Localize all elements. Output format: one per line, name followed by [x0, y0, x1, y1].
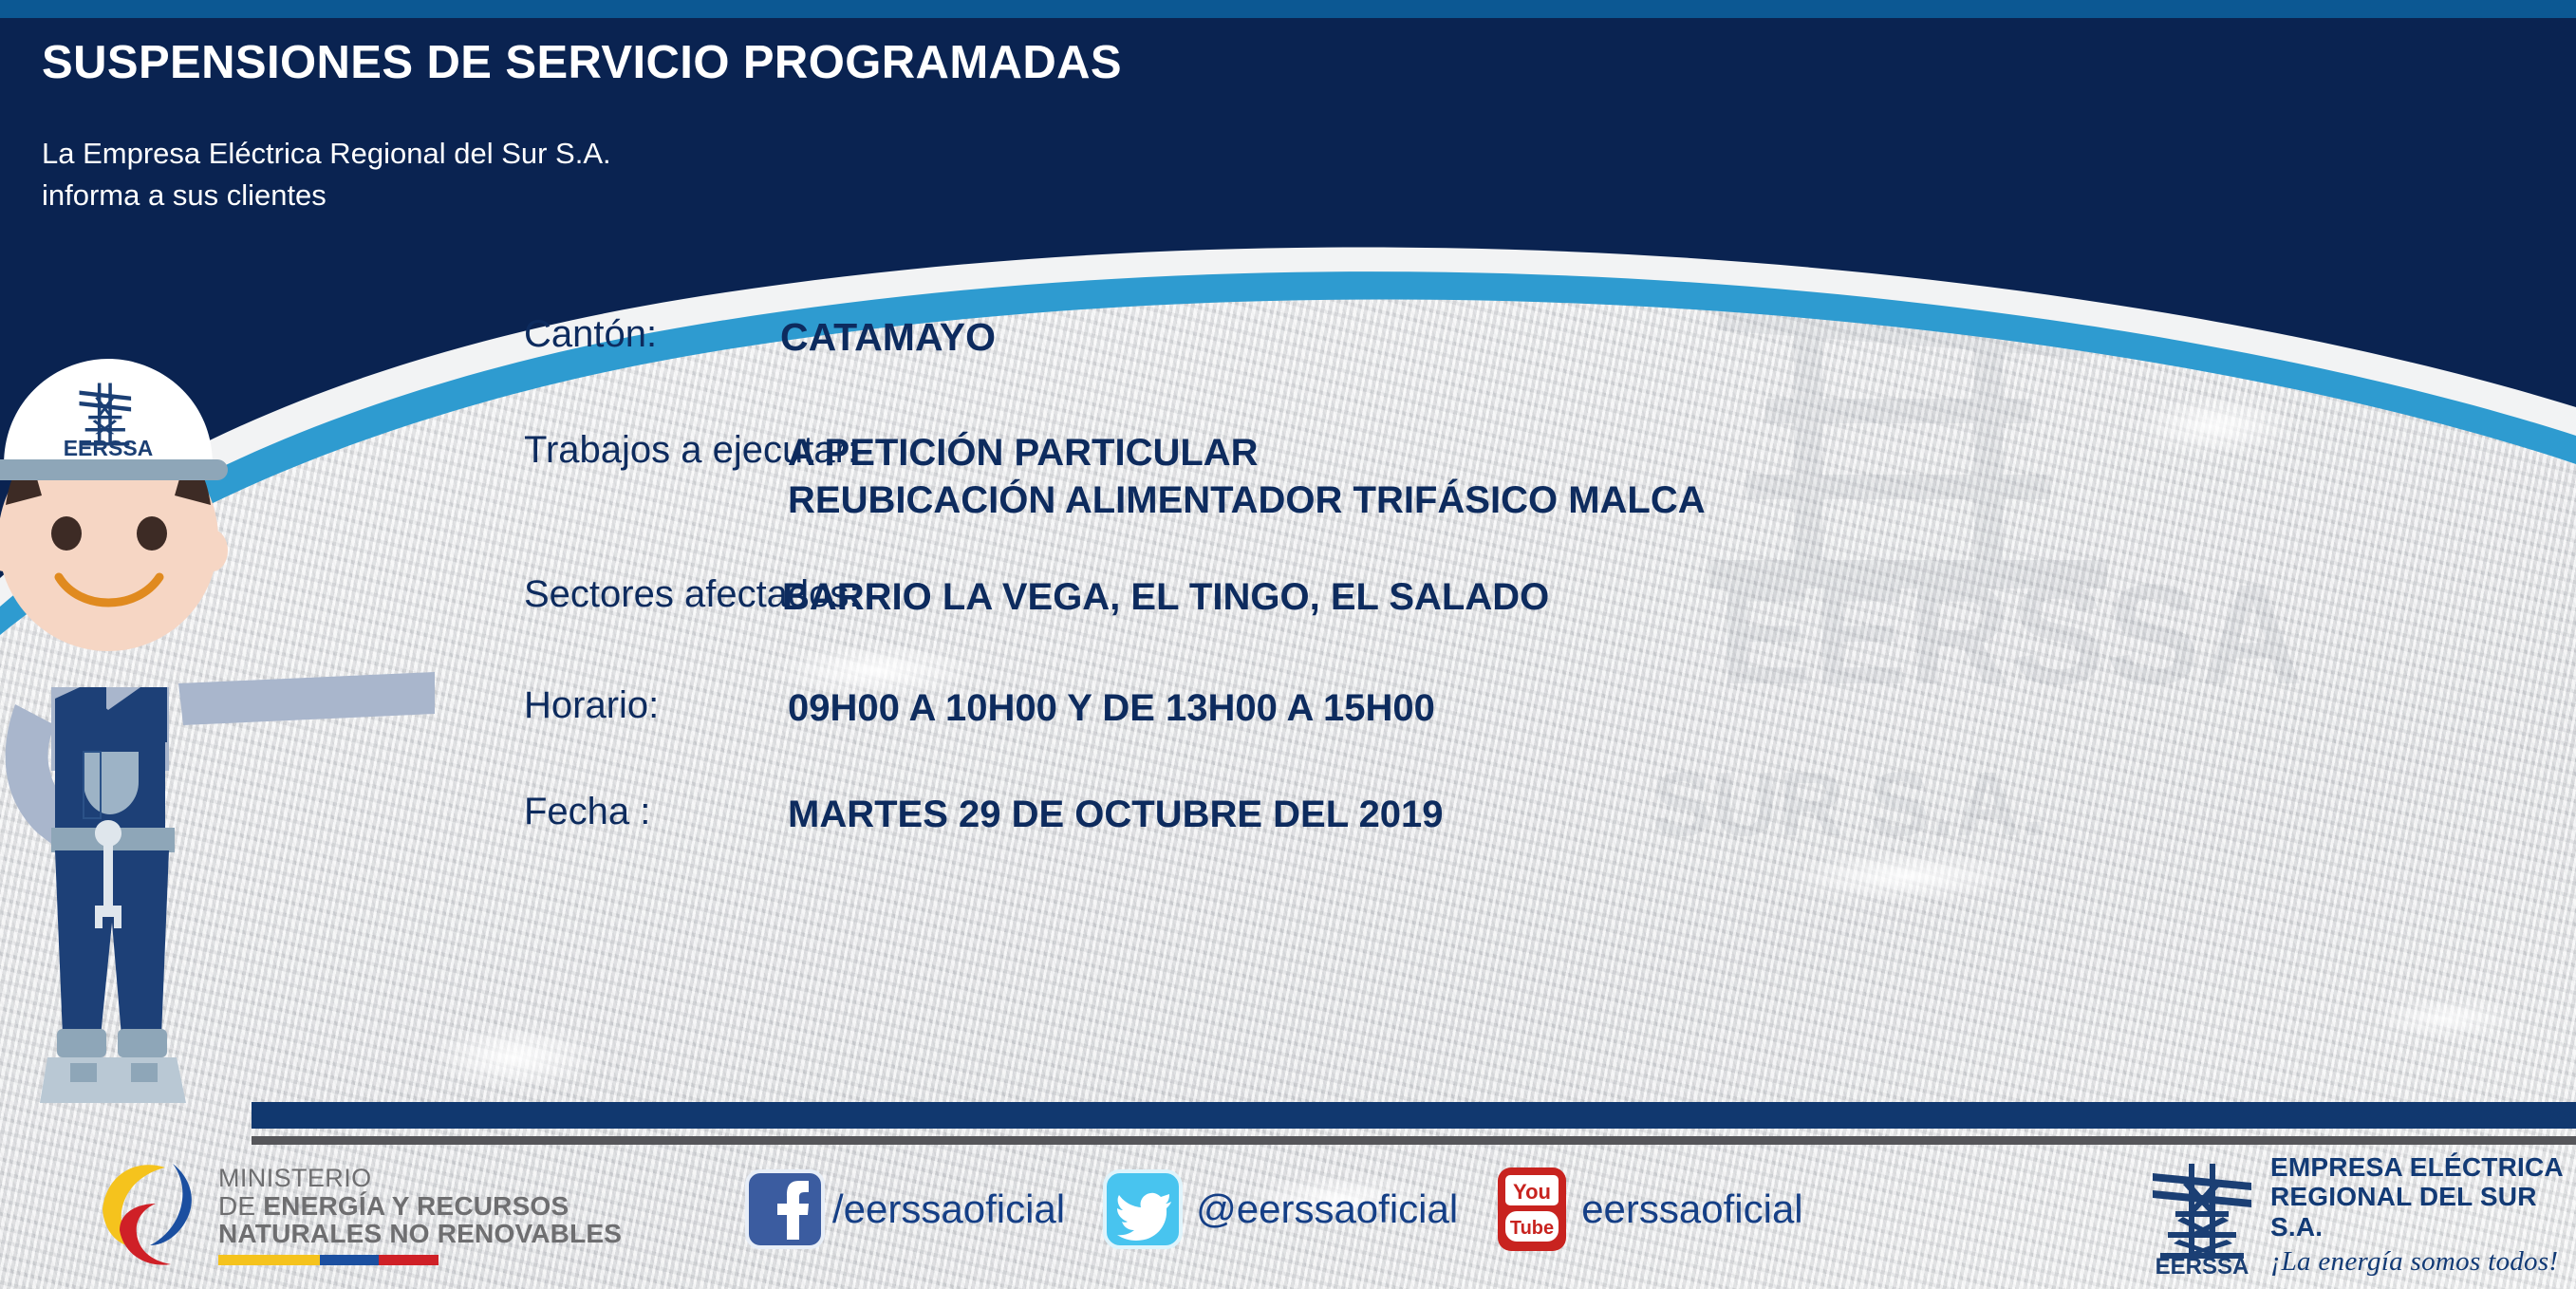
svg-text:Tube: Tube	[1510, 1218, 1554, 1239]
eerssa-line1: EMPRESA ELÉCTRICA	[2270, 1152, 2576, 1182]
detail-row-horario: Horario: 09H00 A 10H00 Y DE 13H00 A 15H0…	[524, 684, 2517, 732]
footer-divider-navy	[252, 1102, 2576, 1129]
trabajos-value-line1: A PETICIÓN PARTICULAR	[788, 429, 1706, 476]
ecuador-swirl-icon	[91, 1154, 203, 1276]
flag-red	[379, 1255, 439, 1265]
social-links: /eerssaoficial @eerssaoficial You	[745, 1166, 1841, 1253]
youtube-icon[interactable]: You Tube	[1496, 1166, 1568, 1253]
facebook-icon[interactable]	[745, 1169, 825, 1249]
ministry-line2-bold: ENERGÍA Y RECURSOS	[263, 1191, 569, 1221]
youtube-handle[interactable]: eerssaoficial	[1581, 1186, 1802, 1232]
facebook-handle[interactable]: /eerssaoficial	[832, 1186, 1065, 1232]
outage-details: Cantón: CATAMAYO Trabajos a ejecutar: A …	[524, 313, 2517, 839]
eerssa-logo-text: EMPRESA ELÉCTRICA REGIONAL DEL SUR S.A. …	[2270, 1152, 2576, 1278]
footer: MINISTERIO DE ENERGÍA Y RECURSOS NATURAL…	[0, 1145, 2576, 1289]
footer-divider-gray	[252, 1136, 2576, 1145]
eerssa-logo: EERSSA EMPRESA ELÉCTRICA REGIONAL DEL SU…	[2147, 1152, 2576, 1278]
header-subtitle-line1: La Empresa Eléctrica Regional del Sur S.…	[42, 133, 611, 175]
ministry-line2-light: DE	[218, 1191, 263, 1221]
helmet-logo-label: EERSSA	[64, 436, 154, 460]
ecuador-flag-bar	[218, 1255, 439, 1265]
canton-value: CATAMAYO	[780, 313, 996, 363]
twitter-handle[interactable]: @eerssaoficial	[1196, 1186, 1458, 1232]
fecha-label: Fecha :	[524, 791, 788, 833]
svg-text:You: You	[1513, 1180, 1551, 1204]
page-title: SUSPENSIONES DE SERVICIO PROGRAMADAS	[42, 36, 1122, 89]
detail-row-sectores: Sectores afectados: BARRIO LA VEGA, EL T…	[524, 573, 2517, 621]
eerssa-mark-label: EERSSA	[2156, 1254, 2249, 1278]
ministry-logo: MINISTERIO DE ENERGÍA Y RECURSOS NATURAL…	[91, 1154, 622, 1276]
trabajos-value: A PETICIÓN PARTICULAR REUBICACIÓN ALIMEN…	[788, 429, 1706, 525]
poster-canvas: EERSSA SUR S.A. SUSPENSIONES DE SERVICIO…	[0, 0, 2576, 1289]
ministry-line2: DE ENERGÍA Y RECURSOS	[218, 1192, 622, 1221]
social-link-youtube[interactable]: You Tube eerssaoficial	[1496, 1166, 1802, 1253]
horario-label: Horario:	[524, 684, 788, 727]
eerssa-line2: REGIONAL DEL SUR S.A.	[2270, 1182, 2576, 1242]
flag-blue	[320, 1255, 380, 1265]
detail-row-trabajos: Trabajos a ejecutar: A PETICIÓN PARTICUL…	[524, 429, 2517, 525]
header-subtitle-line2: informa a sus clientes	[42, 175, 611, 216]
sectores-label: Sectores afectados:	[524, 573, 782, 616]
twitter-icon[interactable]	[1103, 1169, 1183, 1249]
ministry-line3: NATURALES NO RENOVABLES	[218, 1220, 622, 1248]
worker-mascot-illustration: EERSSA	[0, 353, 435, 1120]
detail-row-fecha: Fecha : MARTES 29 DE OCTUBRE DEL 2019	[524, 791, 2517, 838]
horario-value: 09H00 A 10H00 Y DE 13H00 A 15H00	[788, 684, 1435, 732]
ministry-text: MINISTERIO DE ENERGÍA Y RECURSOS NATURAL…	[218, 1165, 622, 1265]
header-subtitle: La Empresa Eléctrica Regional del Sur S.…	[42, 133, 611, 216]
flag-yellow	[218, 1255, 320, 1265]
detail-row-canton: Cantón: CATAMAYO	[524, 313, 2517, 363]
top-accent-strip	[0, 0, 2576, 18]
fecha-value: MARTES 29 DE OCTUBRE DEL 2019	[788, 791, 1444, 838]
trabajos-value-line2: REUBICACIÓN ALIMENTADOR TRIFÁSICO MALCA	[788, 476, 1706, 524]
social-link-twitter[interactable]: @eerssaoficial	[1103, 1169, 1458, 1249]
canton-label: Cantón:	[524, 313, 780, 356]
ministry-line1: MINISTERIO	[218, 1165, 622, 1192]
sectores-value: BARRIO LA VEGA, EL TINGO, EL SALADO	[782, 573, 1549, 621]
trabajos-label: Trabajos a ejecutar:	[524, 429, 788, 472]
transmission-tower-icon: EERSSA	[2147, 1152, 2257, 1278]
eerssa-slogan: ¡La energía somos todos!	[2270, 1246, 2576, 1278]
social-link-facebook[interactable]: /eerssaoficial	[745, 1169, 1065, 1249]
